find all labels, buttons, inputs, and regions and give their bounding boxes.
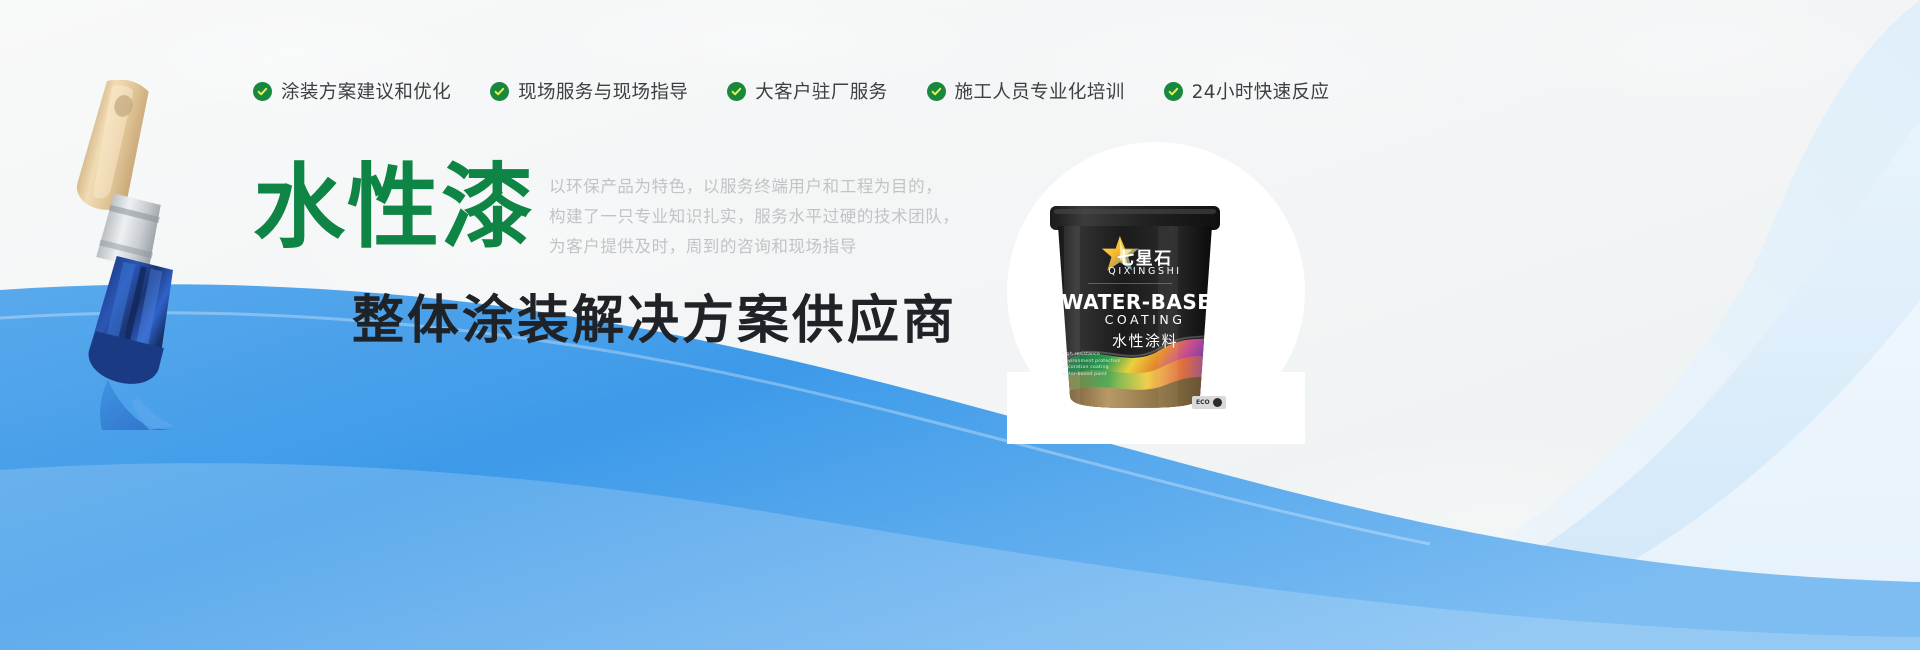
feature-list: 涂装方案建议和优化 现场服务与现场指导 大客户驻厂服务 施工人员专业化培训 24… [0,78,1920,104]
feature-item[interactable]: 涂装方案建议和优化 [253,78,451,104]
feature-item[interactable]: 大客户驻厂服务 [727,78,887,104]
paragraph-line: 以环保产品为特色，以服务终端用户和工程为目的， [549,172,959,202]
check-circle-icon [727,82,746,101]
paragraph-line: 为客户提供及时，周到的咨询和现场指导 [549,232,959,262]
check-circle-icon [490,82,509,101]
feature-item[interactable]: 24小时快速反应 [1164,78,1330,104]
feature-label: 施工人员专业化培训 [955,78,1125,104]
product-fine-print: high resistance environment protection d… [1062,352,1182,378]
eco-leaf-icon [1213,398,1222,407]
check-circle-icon [1164,82,1183,101]
feature-item[interactable]: 现场服务与现场指导 [490,78,688,104]
check-circle-icon [927,82,946,101]
product-name-en-line2: COATING [1050,312,1240,327]
product-name-cn: 水性涂料 [1050,330,1240,351]
feature-label: 涂装方案建议和优化 [281,78,451,104]
eco-badge-label: ECO [1196,399,1210,406]
check-circle-icon [253,82,272,101]
paragraph-line: 构建了一只专业知识扎实，服务水平过硬的技术团队， [549,202,959,232]
description-paragraph: 以环保产品为特色，以服务终端用户和工程为目的， 构建了一只专业知识扎实，服务水平… [549,172,959,262]
eco-badge: ECO [1192,396,1226,409]
product-name-en-line1: WATER-BASED [1050,290,1240,314]
headline-block: 水性漆 以环保产品为特色，以服务终端用户和工程为目的， 构建了一只专业知识扎实，… [253,158,959,262]
page-title: 水性漆 [253,158,535,258]
feature-label: 现场服务与现场指导 [518,78,688,104]
subtitle: 整体涂装解决方案供应商 [352,290,957,352]
feature-label: 24小时快速反应 [1192,78,1330,104]
paint-product-banner: 涂装方案建议和优化 现场服务与现场指导 大客户驻厂服务 施工人员专业化培训 24… [0,0,1920,650]
brand-name-en: QIXINGSHI [1050,266,1240,277]
feature-label: 大客户驻厂服务 [755,78,887,104]
feature-item[interactable]: 施工人员专业化培训 [927,78,1125,104]
